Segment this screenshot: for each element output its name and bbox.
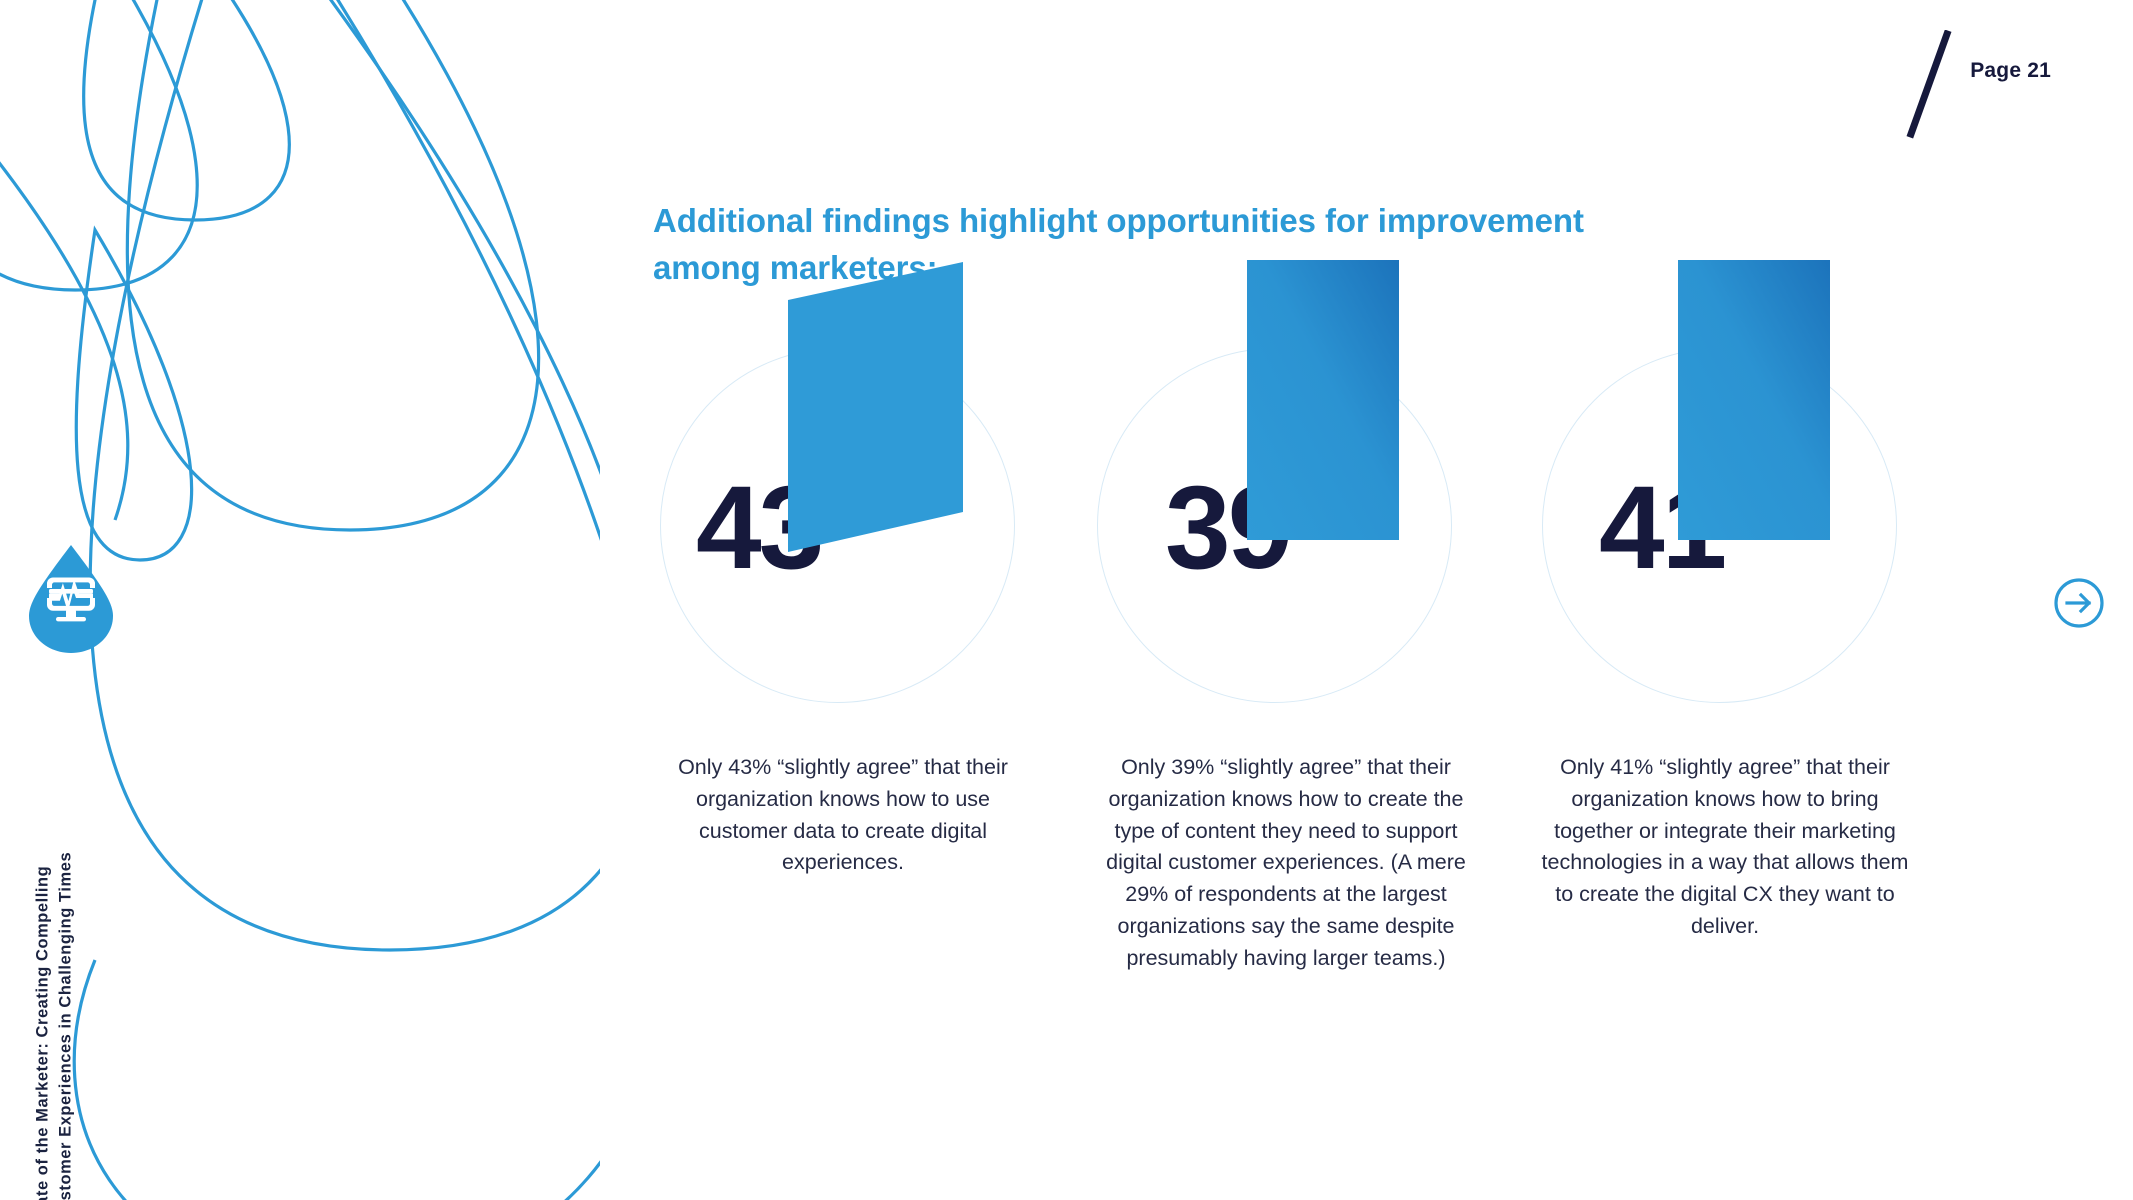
stat-visual: 43 bbox=[640, 330, 1087, 730]
stat-caption: Only 41% “slightly agree” that their org… bbox=[1534, 752, 1916, 943]
stat-card: 41 Only 41% “slightly agree” that their … bbox=[1534, 330, 1981, 943]
stats-row: 43 Only 43% “slightly agree” that their … bbox=[640, 330, 1980, 975]
running-title-line-1: State of the Marketer: Creating Compelli… bbox=[32, 623, 55, 1200]
stat-card: 43 Only 43% “slightly agree” that their … bbox=[640, 330, 1087, 879]
stat-shape-rectangle bbox=[1247, 260, 1399, 540]
stat-shape-rectangle bbox=[1678, 260, 1830, 540]
diagonal-slash-icon bbox=[1906, 30, 1952, 140]
stat-caption: Only 43% “slightly agree” that their org… bbox=[652, 752, 1034, 879]
page-marker: Page 21 bbox=[1906, 30, 2051, 140]
slide-page-21: State of the Marketer: Creating Compelli… bbox=[0, 0, 2133, 1200]
stat-caption: Only 39% “slightly agree” that their org… bbox=[1095, 752, 1477, 975]
arrow-right-circle-icon[interactable] bbox=[2053, 577, 2105, 629]
page-number-label: Page 21 bbox=[1970, 59, 2051, 111]
stat-shape-trapezoid bbox=[788, 262, 963, 552]
running-title: State of the Marketer: Creating Compelli… bbox=[32, 623, 79, 1200]
stat-visual: 41 bbox=[1534, 330, 1981, 730]
running-title-line-2: Customer Experiences in Challenging Time… bbox=[55, 623, 78, 1200]
stat-card: 39 Only 39% “slightly agree” that their … bbox=[1087, 330, 1534, 975]
page-title-line-1: Additional findings highlight opportunit… bbox=[653, 198, 1683, 245]
stat-visual: 39 bbox=[1087, 330, 1534, 730]
